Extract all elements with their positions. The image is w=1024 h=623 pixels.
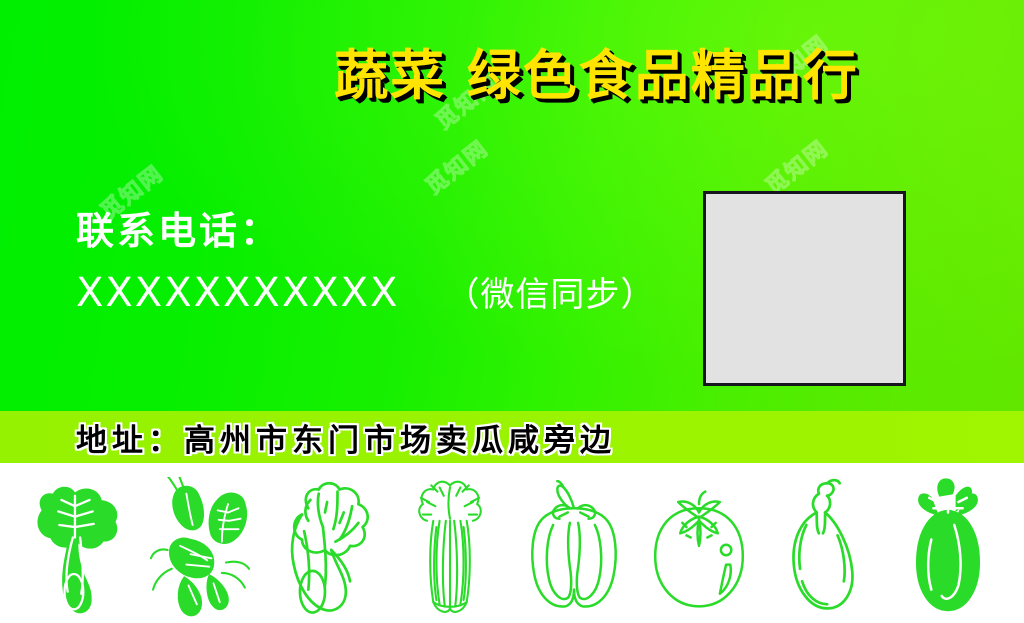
bell-pepper-icon bbox=[520, 477, 628, 623]
vegetable-strip: 觅知网 觅知网 觅知网 bbox=[0, 463, 1024, 623]
tomato-icon bbox=[645, 477, 753, 623]
page-title: 蔬菜 绿色食品精品行 bbox=[334, 48, 974, 105]
celery-icon bbox=[396, 477, 504, 623]
qr-code-placeholder bbox=[703, 191, 906, 386]
business-card: 觅知网 觅知网 觅知网 觅知网 觅知网 蔬菜 绿色食品精品行 联系电话： XXX… bbox=[0, 0, 1024, 623]
napa-cabbage-icon bbox=[271, 477, 379, 623]
leafy-greens-bundle-icon bbox=[147, 477, 255, 623]
address-band: 地址：高州市东门市场卖瓜咸旁边 bbox=[0, 411, 1024, 463]
eggplant-filled-icon bbox=[894, 477, 1002, 623]
eggplant-outline-icon bbox=[769, 477, 877, 623]
wechat-note: （微信同步） bbox=[445, 267, 655, 316]
address-text: 地址：高州市东门市场卖瓜咸旁边 bbox=[76, 415, 616, 460]
phone-number: XXXXXXXXXXX bbox=[76, 270, 399, 316]
phone-row: XXXXXXXXXXX （微信同步） bbox=[76, 267, 655, 316]
vegetable-row bbox=[0, 477, 1024, 623]
bok-choy-icon bbox=[22, 477, 130, 623]
phone-label: 联系电话： bbox=[76, 200, 281, 255]
